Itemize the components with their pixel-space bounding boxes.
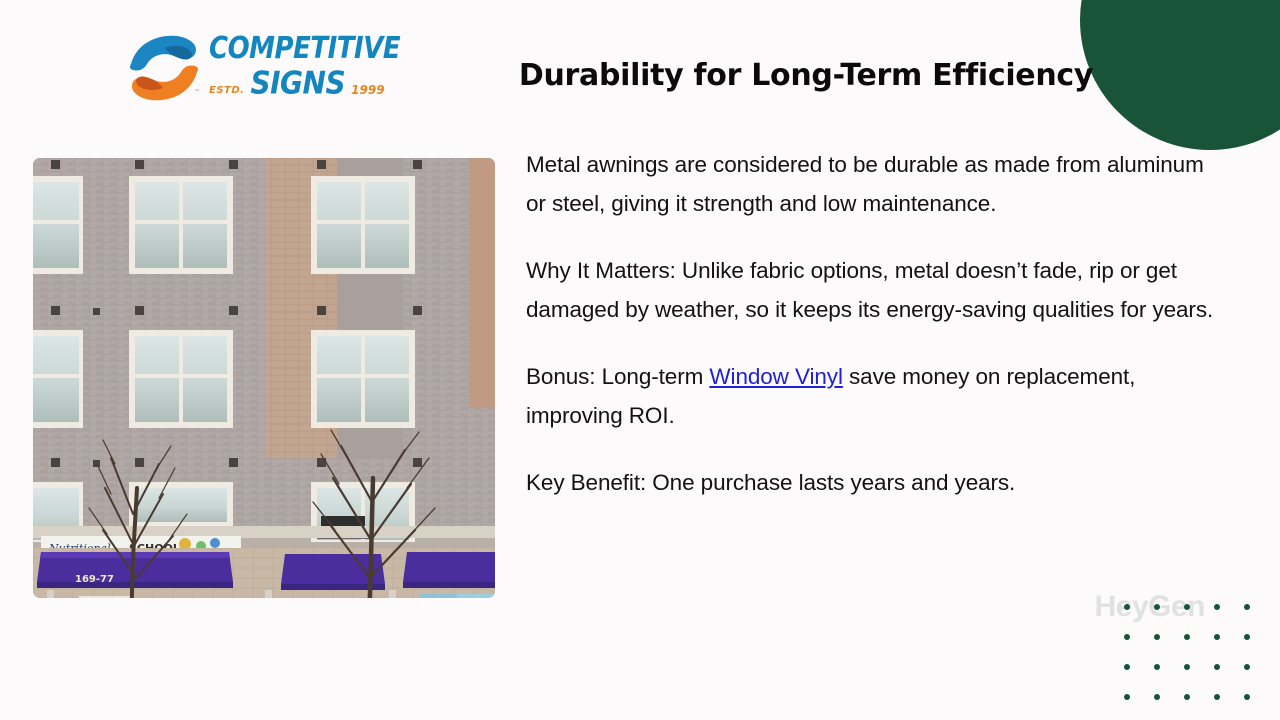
decor-dot xyxy=(1244,634,1250,640)
decor-dot xyxy=(1244,604,1250,610)
brand-established-label: ESTD. xyxy=(209,86,244,99)
decor-dot xyxy=(1244,664,1250,670)
decor-dot xyxy=(1124,694,1130,700)
bonus-text-before: Bonus: Long-term xyxy=(526,364,709,389)
decor-dot xyxy=(1214,634,1220,640)
brand-established-year: 1999 xyxy=(351,84,384,99)
brand-wordmark: COMPETITIVE ESTD. SIGNS 1999 xyxy=(209,38,400,99)
decor-dot xyxy=(1154,664,1160,670)
decor-dot xyxy=(1124,634,1130,640)
decor-dot xyxy=(1184,694,1190,700)
decor-dot xyxy=(1214,604,1220,610)
window-vinyl-link[interactable]: Window Vinyl xyxy=(709,364,842,389)
decor-dot xyxy=(1154,634,1160,640)
paragraph-key-benefit: Key Benefit: One purchase lasts years an… xyxy=(526,463,1226,502)
decor-dot xyxy=(1244,694,1250,700)
decor-dot xyxy=(1214,694,1220,700)
decor-dot xyxy=(1184,604,1190,610)
paragraph-intro: Metal awnings are considered to be durab… xyxy=(526,145,1226,223)
decor-dot xyxy=(1154,694,1160,700)
decor-dot xyxy=(1184,664,1190,670)
decor-dot xyxy=(1124,604,1130,610)
svg-text:™: ™ xyxy=(194,89,200,96)
brand-name-line1: COMPETITIVE xyxy=(209,34,400,64)
paragraph-why-it-matters: Why It Matters: Unlike fabric options, m… xyxy=(526,251,1226,329)
dot-grid-decoration xyxy=(1112,592,1262,712)
brand-name-line2: SIGNS xyxy=(250,67,345,98)
swoosh-logo-icon: ™ xyxy=(125,34,203,102)
decor-dot xyxy=(1124,664,1130,670)
body-content: Metal awnings are considered to be durab… xyxy=(526,145,1226,502)
decor-dot xyxy=(1184,634,1190,640)
decor-dot xyxy=(1154,604,1160,610)
decor-dot xyxy=(1214,664,1220,670)
brand-logo: ™ COMPETITIVE ESTD. SIGNS 1999 xyxy=(125,32,340,104)
storefront-photo: Nutritional SCHOOL 169-77 Teamwork a xyxy=(33,158,495,598)
paragraph-bonus: Bonus: Long-term Window Vinyl save money… xyxy=(526,357,1226,435)
page-title: Durability for Long-Term Efficiency xyxy=(496,58,1116,93)
svg-text:169-77: 169-77 xyxy=(75,574,114,585)
